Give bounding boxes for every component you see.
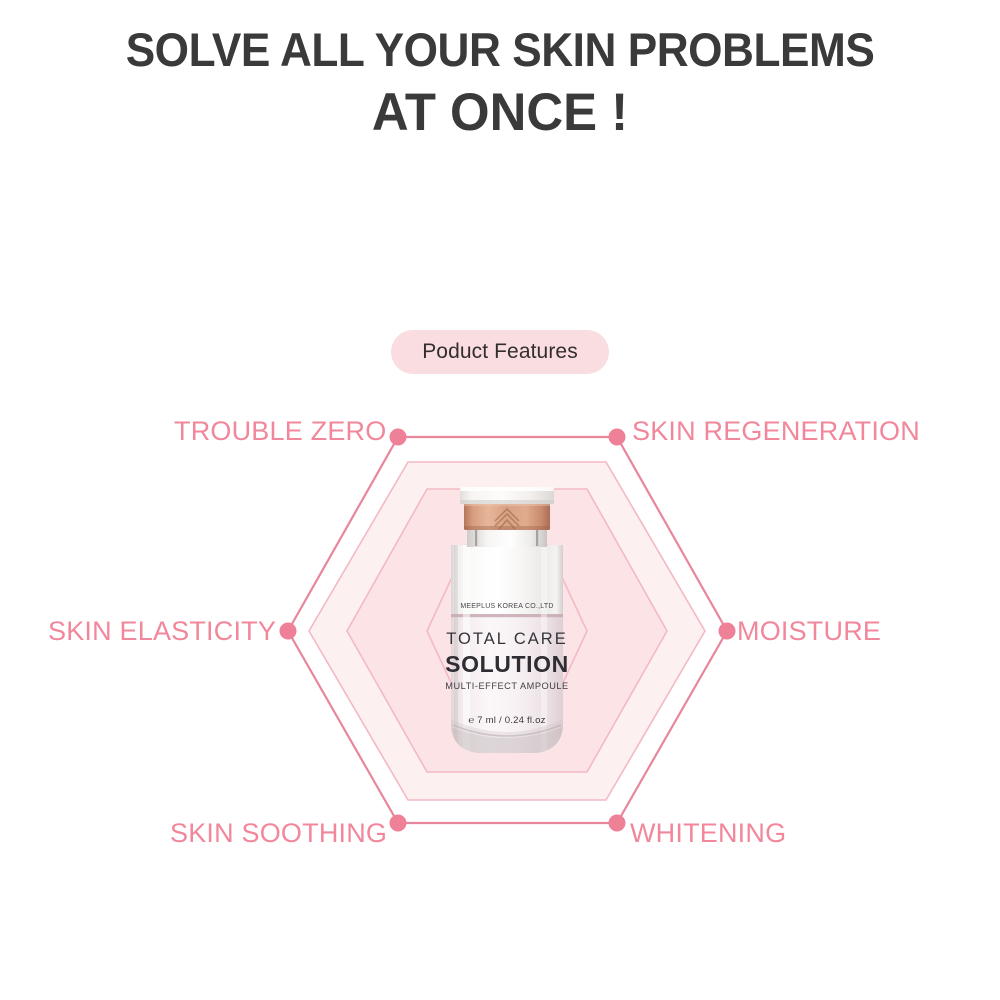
headline: SOLVE ALL YOUR SKIN PROBLEMS AT ONCE ! (0, 22, 1000, 149)
bottle-neck-mark-right (536, 529, 538, 546)
vertex-dot-skin-regeneration (609, 429, 626, 446)
bottle-neck-mark-left (475, 529, 477, 546)
feature-label-whitening: WHITENING (630, 820, 786, 847)
bottle-cap-copper-band (464, 502, 550, 530)
feature-label-skin-regeneration: SKIN REGENERATION (632, 418, 920, 445)
vertex-dot-skin-elasticity (280, 623, 297, 640)
headline-line-1: SOLVE ALL YOUR SKIN PROBLEMS (30, 22, 970, 77)
product-features-badge: Poduct Features (391, 330, 609, 374)
feature-label-trouble-zero: TROUBLE ZERO (174, 418, 386, 445)
vertex-dot-skin-soothing (390, 815, 407, 832)
feature-label-skin-soothing: SKIN SOOTHING (170, 820, 387, 847)
vertex-dot-trouble-zero (390, 429, 407, 446)
vertex-dot-moisture (719, 623, 736, 640)
headline-line-2: AT ONCE ! (20, 77, 980, 149)
feature-label-skin-elasticity: SKIN ELASTICITY (48, 618, 276, 645)
product-features-badge-container: Poduct Features (0, 330, 1000, 374)
product-bottle-image: MEEPLUS KOREA CO.,LTD TOTAL CARE SOLUTIO… (437, 487, 577, 765)
feature-label-moisture: MOISTURE (737, 618, 881, 645)
vertex-dot-whitening (609, 815, 626, 832)
